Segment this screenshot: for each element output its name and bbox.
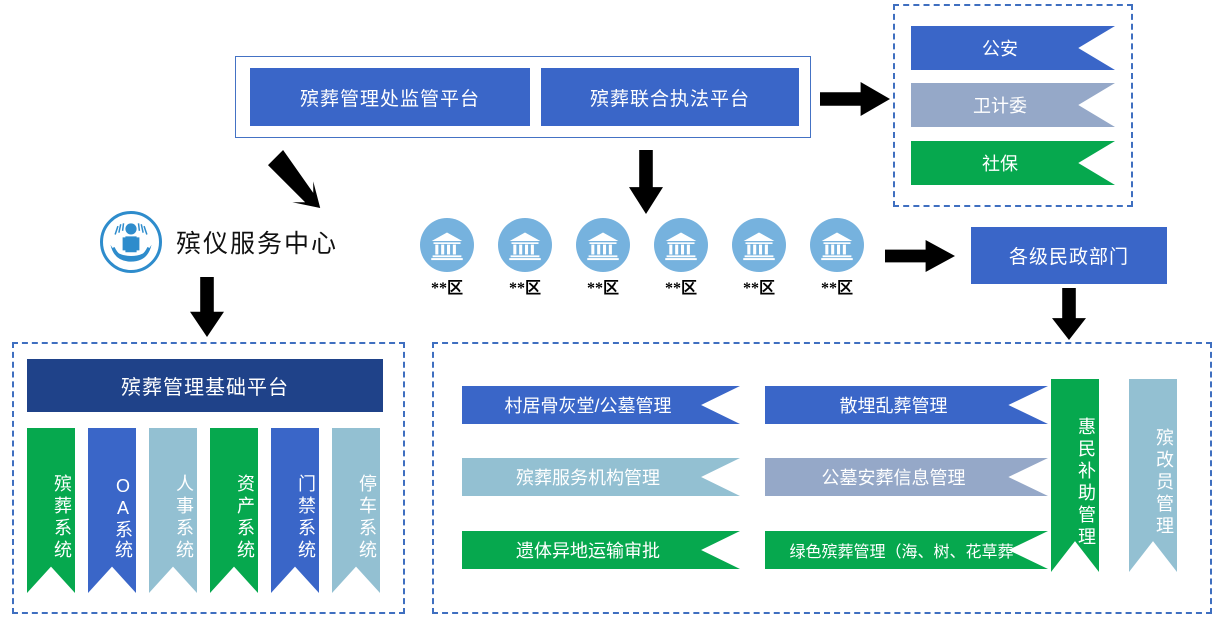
district-label: **区 [808, 274, 866, 298]
government-building-icon [576, 218, 630, 272]
platform-enforcement-box[interactable]: 殡葬联合执法平台 [541, 68, 799, 126]
platform-supervision-label: 殡葬管理处监管平台 [300, 84, 480, 111]
business-label: 公墓安葬信息管理 [822, 464, 966, 490]
business-label: 殡改员管理 [1151, 428, 1177, 538]
business-label: 殡葬服务机构管理 [516, 464, 660, 490]
agency-label: 社保 [982, 150, 1018, 176]
district-label: **区 [574, 274, 632, 298]
base-platform-title: 殡葬管理基础平台 [121, 371, 289, 400]
system-label: OA系统 [110, 476, 136, 560]
government-building-icon [498, 218, 552, 272]
district-item[interactable]: **区 [418, 218, 476, 300]
district-item[interactable]: **区 [652, 218, 710, 300]
district-label: **区 [730, 274, 788, 298]
district-label: **区 [418, 274, 476, 298]
service-center-group: 殡仪服务中心 [100, 209, 350, 275]
platform-enforcement-label: 殡葬联合执法平台 [590, 84, 750, 111]
business-label: 遗体异地运输审批 [516, 537, 660, 563]
government-building-icon [810, 218, 864, 272]
arrow-to-districts-icon [629, 150, 663, 214]
base-platform-header: 殡葬管理基础平台 [27, 359, 383, 412]
platform-supervision-box[interactable]: 殡葬管理处监管平台 [250, 68, 530, 126]
business-item-village-columbarium[interactable]: 村居骨灰堂/公墓管理 [462, 386, 740, 424]
arrow-to-business-panel-icon [1052, 288, 1086, 340]
business-label: 村居骨灰堂/公墓管理 [504, 392, 671, 418]
government-building-icon [732, 218, 786, 272]
business-label: 惠民补助管理 [1073, 417, 1099, 549]
district-item[interactable]: **区 [496, 218, 554, 300]
arrow-to-base-platform-icon [190, 277, 224, 337]
district-label: **区 [496, 274, 554, 298]
business-item-cemetery-info[interactable]: 公墓安葬信息管理 [765, 458, 1048, 496]
system-label: 殡葬系统 [49, 474, 75, 562]
system-label: 停车系统 [354, 474, 380, 562]
business-item-funeral-institutions[interactable]: 殡葬服务机构管理 [462, 458, 740, 496]
agency-label: 公安 [982, 35, 1018, 61]
funeral-service-logo-icon [100, 211, 162, 273]
arrow-to-service-center-icon [268, 150, 326, 208]
service-center-label: 殡仪服务中心 [176, 224, 338, 260]
agency-label: 卫计委 [973, 92, 1027, 118]
government-building-icon [420, 218, 474, 272]
system-label: 人事系统 [171, 474, 197, 562]
district-item[interactable]: **区 [574, 218, 632, 300]
system-label: 门禁系统 [293, 474, 319, 562]
civil-affairs-label: 各级民政部门 [1009, 242, 1129, 269]
system-label: 资产系统 [232, 474, 258, 562]
government-building-icon [654, 218, 708, 272]
business-item-scattered-burial[interactable]: 散埋乱葬管理 [765, 386, 1048, 424]
district-label: **区 [652, 274, 710, 298]
business-label: 绿色殡葬管理（海、树、花草葬 [789, 538, 1013, 562]
business-label: 散埋乱葬管理 [840, 392, 948, 418]
district-item[interactable]: **区 [808, 218, 866, 300]
arrow-to-agencies-icon [820, 82, 890, 116]
civil-affairs-box[interactable]: 各级民政部门 [971, 227, 1167, 284]
business-item-body-transport-approval[interactable]: 遗体异地运输审批 [462, 531, 740, 569]
business-item-green-funeral[interactable]: 绿色殡葬管理（海、树、花草葬 [765, 531, 1048, 569]
district-item[interactable]: **区 [730, 218, 788, 300]
districts-row: **区 **区 [418, 218, 878, 300]
diagram-canvas: 殡葬管理处监管平台 殡葬联合执法平台 公安 卫计委 社保 [0, 0, 1223, 624]
arrow-to-civil-affairs-icon [885, 240, 955, 272]
